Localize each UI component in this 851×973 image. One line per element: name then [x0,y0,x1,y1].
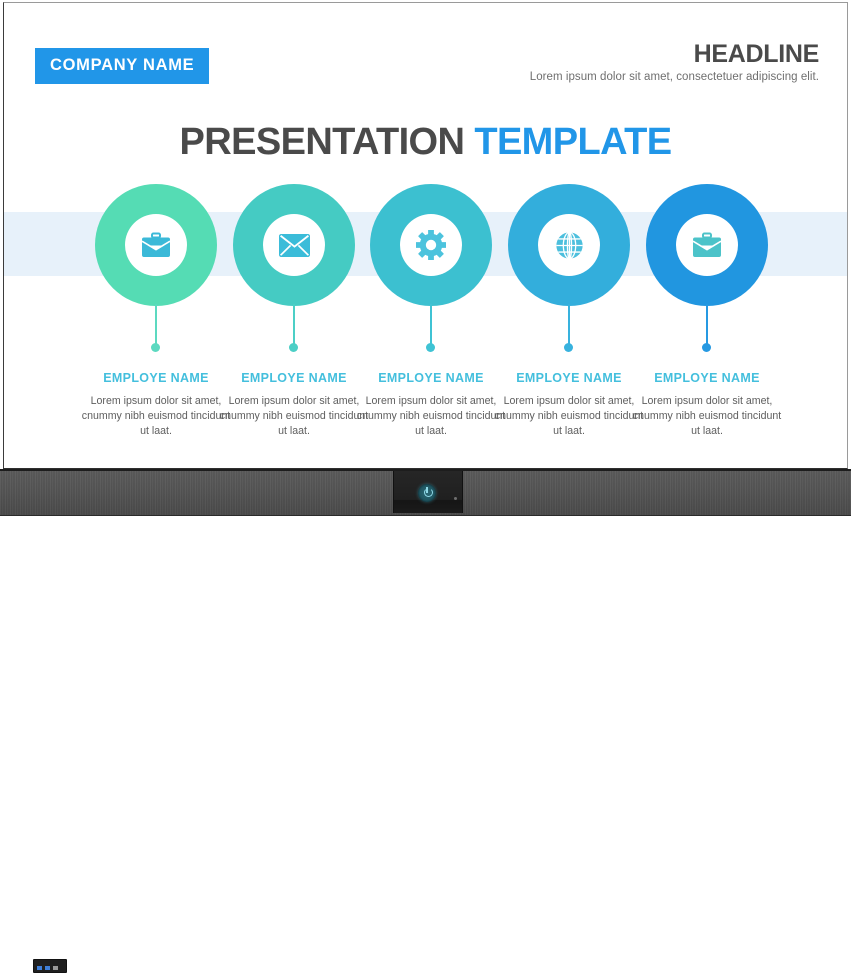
power-icon[interactable] [418,484,436,502]
employee-name-1: EMPLOYE NAME [80,371,232,385]
node-5[interactable] [646,184,768,306]
employee-name-2: EMPLOYE NAME [218,371,370,385]
slide-canvas: COMPANY NAME HEADLINE Lorem ipsum dolor … [4,3,847,468]
caption-2: EMPLOYE NAMELorem ipsum dolor sit amet, … [218,371,370,440]
node-stem-dot-1 [151,343,160,352]
node-ring-3 [370,184,492,306]
node-4[interactable] [508,184,630,306]
node-stem-dot-2 [289,343,298,352]
node-stem-dot-5 [702,343,711,352]
led-c [53,966,58,970]
node-3[interactable] [370,184,492,306]
led-b [45,966,50,970]
node-stem-2 [293,304,295,346]
node-2[interactable] [233,184,355,306]
node-stem-1 [155,304,157,346]
node-stem-3 [430,304,432,346]
employee-name-5: EMPLOYE NAME [631,371,783,385]
status-dot [454,497,457,500]
gear-icon [400,214,462,276]
node-ring-4 [508,184,630,306]
node-ring-1 [95,184,217,306]
node-stem-dot-3 [426,343,435,352]
employee-description-5: Lorem ipsum dolor sit amet, cnummy nibh … [631,394,783,440]
led-indicator [33,959,67,973]
monitor: COMPANY NAME HEADLINE Lorem ipsum dolor … [0,0,851,513]
employee-description-2: Lorem ipsum dolor sit amet, cnummy nibh … [218,394,370,440]
led-a [37,966,42,970]
node-ring-5 [646,184,768,306]
node-stem-dot-4 [564,343,573,352]
node-stem-5 [706,304,708,346]
briefcase-icon [125,214,187,276]
employee-description-3: Lorem ipsum dolor sit amet, cnummy nibh … [355,394,507,440]
caption-3: EMPLOYE NAMELorem ipsum dolor sit amet, … [355,371,507,440]
node-1[interactable] [95,184,217,306]
briefcase-icon [676,214,738,276]
globe-icon [538,214,600,276]
caption-4: EMPLOYE NAMELorem ipsum dolor sit amet, … [493,371,645,440]
envelope-icon [263,214,325,276]
node-ring-2 [233,184,355,306]
monitor-bezel: COMPANY NAME HEADLINE Lorem ipsum dolor … [3,2,848,469]
node-stem-4 [568,304,570,346]
employee-description-4: Lorem ipsum dolor sit amet, cnummy nibh … [493,394,645,440]
employee-name-4: EMPLOYE NAME [493,371,645,385]
caption-1: EMPLOYE NAMELorem ipsum dolor sit amet, … [80,371,232,440]
employee-description-1: Lorem ipsum dolor sit amet, cnummy nibh … [80,394,232,440]
caption-5: EMPLOYE NAMELorem ipsum dolor sit amet, … [631,371,783,440]
employee-name-3: EMPLOYE NAME [355,371,507,385]
